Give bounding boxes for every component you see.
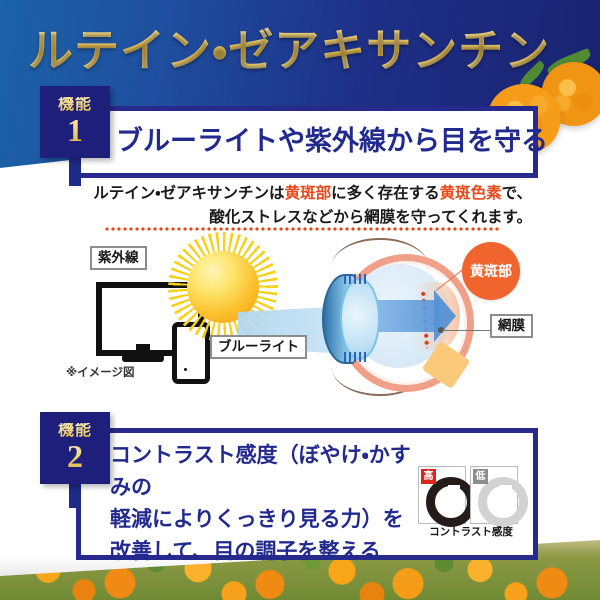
label-macula: 黄斑部 (462, 242, 520, 300)
body-copy-l1-post: で、 (502, 185, 532, 202)
contrast-tag-low: 低 (473, 469, 488, 484)
feature-1-heading: ブルーライトや紫外線から目を守る (116, 119, 536, 158)
feature-2-badge: 機能 2 (40, 412, 110, 484)
feature-1-badge-kanji: 機能 (58, 97, 92, 113)
feature-1-badge: 機能 1 (40, 86, 110, 158)
feature-2-heading: コントラスト感度（ぼやけ・かすみの 軽減によりくっきり見る力）を 改善して、目の… (110, 440, 430, 568)
body-copy-line-1: ルテイン・ゼアキサンチンは黄斑部に多く存在する黄斑色素で、 (72, 182, 532, 206)
zonule-fibers-bottom (344, 352, 368, 362)
feature-2-badge-number: 2 (67, 440, 83, 474)
eye-cross-section-diagram: 黄斑部 (310, 238, 500, 394)
monitor-base-icon (122, 352, 164, 362)
feature-2-heading-line-1: コントラスト感度（ぼやけ・かすみの (110, 440, 430, 504)
label-uv: 紫外線 (90, 246, 147, 270)
body-copy-l1-pre: ルテイン・ゼアキサンチンは (93, 185, 284, 202)
body-copy: ルテイン・ゼアキサンチンは黄斑部に多く存在する黄斑色素で、 酸化ストレスなどから… (72, 182, 532, 230)
image-note: ※イメージ図 (66, 364, 134, 380)
contrast-caption: コントラスト感度 (418, 524, 524, 539)
body-copy-highlight-pigment: 黄斑色素 (440, 185, 502, 202)
dotted-underline (104, 227, 500, 231)
zonule-fibers-top (344, 274, 368, 284)
retina-leader-line (442, 330, 490, 331)
landolt-gap-high (448, 485, 460, 499)
infographic-root: ルテイン・ゼアキサンチン 機能 1 ブルーライトや紫外線から目を守る ルテイン・… (0, 0, 600, 600)
contrast-low-card: 低 (470, 466, 518, 524)
contrast-sensitivity-figure: 高 低 コントラスト感度 (418, 466, 524, 544)
feature-2-heading-line-3: 改善して、目の調子を整える (110, 536, 430, 568)
label-blue-light: ブルーライト (210, 335, 307, 359)
label-retina: 網膜 (490, 314, 533, 338)
body-copy-highlight-macula: 黄斑部 (285, 185, 332, 202)
feature-1-badge-number: 1 (67, 114, 83, 148)
contrast-tag-high: 高 (421, 469, 436, 484)
light-arrow-icon (434, 290, 456, 342)
contrast-high-card: 高 (418, 466, 466, 524)
eye-protection-figure: 紫外線 ※イメージ図 ブルーライト 黄斑部 (60, 236, 540, 396)
page-title: ルテイン・ゼアキサンチン (28, 14, 548, 76)
smartphone-home-dot-icon (184, 368, 187, 371)
crystalline-lens (340, 278, 380, 360)
body-copy-l1-mid: に多く存在する (331, 185, 440, 202)
feature-2-badge-kanji: 機能 (58, 423, 92, 439)
feature-2-heading-line-2: 軽減によりくっきり見る力）を (110, 504, 430, 536)
landolt-gap-low (500, 485, 512, 499)
